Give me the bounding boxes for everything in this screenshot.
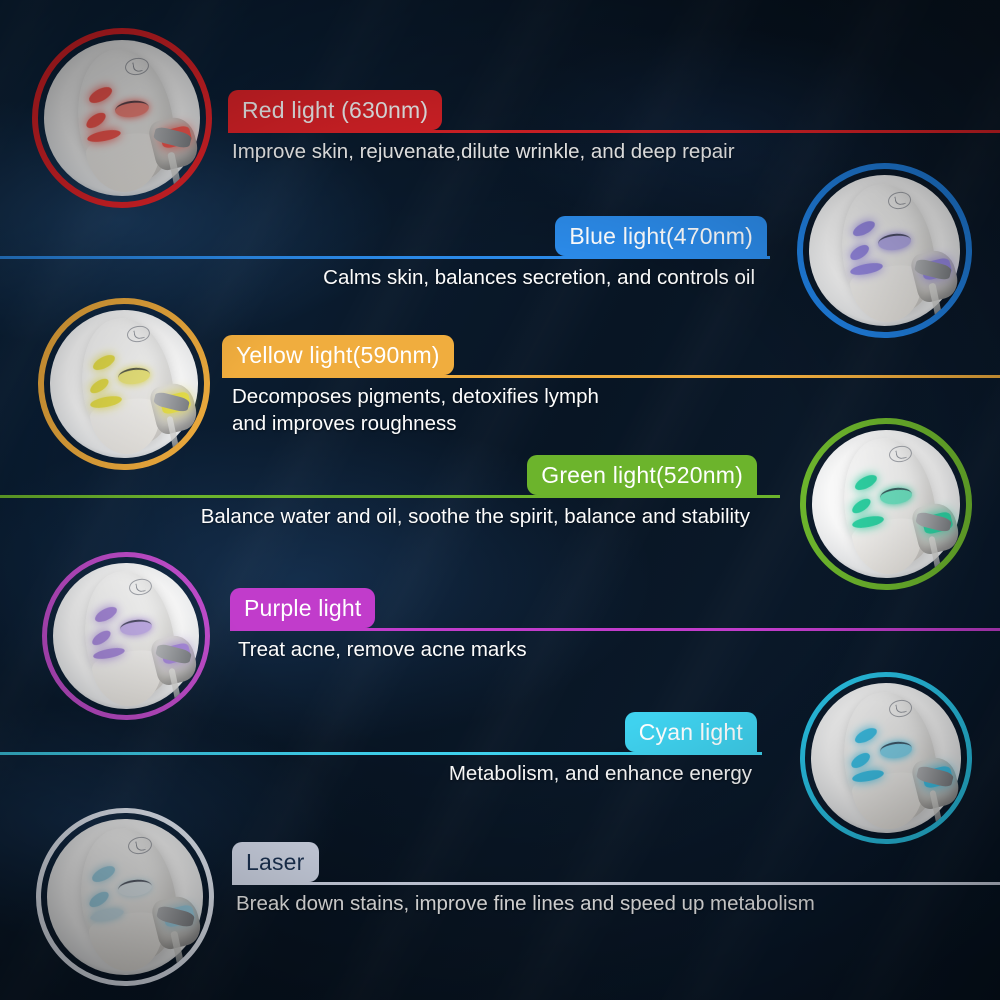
mask-illustration: [38, 34, 206, 202]
mask-illustration: [47, 557, 205, 715]
divider-yellow: [222, 375, 1000, 378]
divider-laser: [232, 882, 1000, 885]
divider-green: [0, 495, 780, 498]
divider-blue: [0, 256, 770, 259]
divider-red: [228, 130, 1000, 133]
badge-cyan[interactable]: Cyan light: [625, 712, 757, 752]
mask-illustration: [44, 304, 204, 464]
mask-illustration: [41, 813, 209, 981]
led-mask-laser: [36, 808, 214, 986]
led-mask-yellow: [38, 298, 210, 470]
description-cyan: Metabolism, and enhance energy: [449, 760, 752, 787]
led-mask-blue: [797, 163, 972, 338]
badge-purple[interactable]: Purple light: [230, 588, 375, 628]
description-blue: Calms skin, balances secretion, and cont…: [323, 264, 755, 291]
description-laser: Break down stains, improve fine lines an…: [236, 890, 815, 917]
description-purple: Treat acne, remove acne marks: [238, 636, 527, 663]
badge-red[interactable]: Red light (630nm): [228, 90, 442, 130]
badge-blue[interactable]: Blue light(470nm): [555, 216, 767, 256]
badge-yellow[interactable]: Yellow light(590nm): [222, 335, 454, 375]
led-mask-red: [32, 28, 212, 208]
badge-laser[interactable]: Laser: [232, 842, 319, 882]
divider-purple: [230, 628, 1000, 631]
description-yellow: Decomposes pigments, detoxifies lymph an…: [232, 383, 599, 437]
led-mask-green: [800, 418, 972, 590]
mask-illustration: [806, 424, 966, 584]
mask-illustration: [805, 677, 967, 839]
led-mask-cyan: [800, 672, 972, 844]
description-green: Balance water and oil, soothe the spirit…: [201, 503, 750, 530]
divider-cyan: [0, 752, 762, 755]
infographic-canvas: Red light (630nm) Improve skin, rejuvena…: [0, 0, 1000, 1000]
mask-illustration: [803, 169, 966, 332]
description-red: Improve skin, rejuvenate,dilute wrinkle,…: [232, 138, 735, 165]
led-mask-purple: [42, 552, 210, 720]
badge-green[interactable]: Green light(520nm): [527, 455, 757, 495]
